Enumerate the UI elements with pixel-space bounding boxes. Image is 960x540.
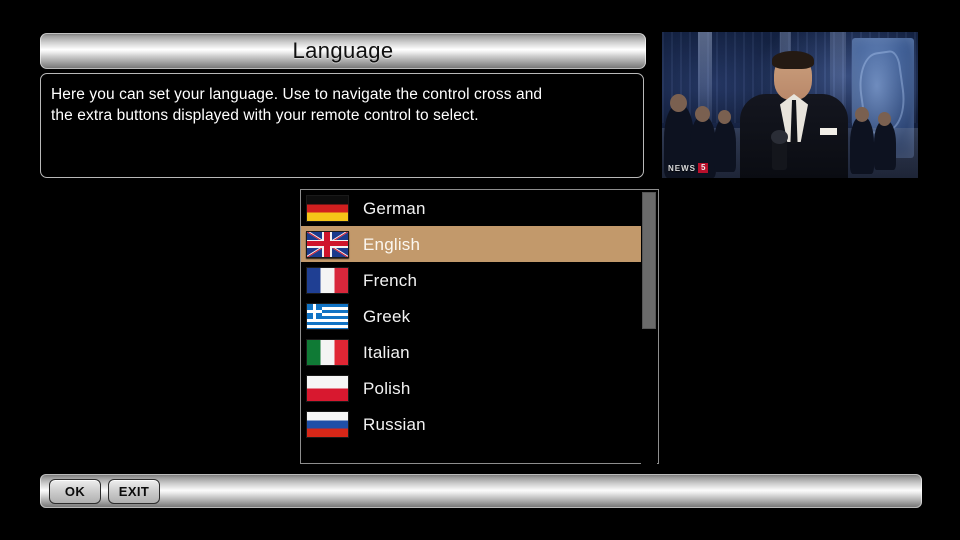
united-kingdom-flag-icon (306, 231, 349, 258)
greece-flag-icon (306, 303, 349, 330)
channel-logo-text: NEWS (668, 164, 696, 173)
germany-flag-icon (306, 195, 349, 222)
exit-button[interactable]: EXIT (108, 479, 160, 504)
list-item[interactable]: English (301, 226, 642, 262)
list-item[interactable]: Italian (301, 334, 642, 370)
list-item-label: English (363, 236, 420, 253)
tv-settings-screen: Language Here you can set your language.… (0, 0, 960, 540)
list-item[interactable]: Greek (301, 298, 642, 334)
france-flag-icon (306, 267, 349, 294)
list-item-label: Polish (363, 380, 411, 397)
language-list[interactable]: German English French Greek (301, 190, 642, 463)
info-panel: Here you can set your language. Use to n… (40, 73, 644, 178)
page-title: Language (292, 40, 393, 62)
channel-logo-badge: 5 (698, 163, 708, 173)
video-reporter-hair (772, 51, 814, 69)
video-reporter-pocket-square (820, 128, 837, 135)
list-item-label: German (363, 200, 426, 217)
list-item-label: Italian (363, 344, 410, 361)
channel-logo-bug: NEWS 5 (668, 163, 708, 173)
video-reporter-microphone (772, 136, 787, 170)
scrollbar-thumb[interactable] (642, 192, 656, 329)
bottom-action-bar: OK EXIT (40, 474, 922, 508)
list-item-label: French (363, 272, 417, 289)
language-list-panel: German English French Greek (300, 189, 659, 464)
list-item[interactable]: French (301, 262, 642, 298)
poland-flag-icon (306, 375, 349, 402)
list-item[interactable]: Polish (301, 370, 642, 406)
ok-button[interactable]: OK (49, 479, 101, 504)
list-item-label: Russian (363, 416, 426, 433)
russia-flag-icon (306, 411, 349, 438)
list-item[interactable]: German (301, 190, 642, 226)
video-preview[interactable]: NEWS 5 (662, 32, 918, 178)
list-item-label: Greek (363, 308, 410, 325)
language-list-scrollbar[interactable] (641, 191, 657, 464)
page-title-bar: Language (40, 33, 646, 69)
list-item[interactable]: Russian (301, 406, 642, 442)
italy-flag-icon (306, 339, 349, 366)
info-help-text: Here you can set your language. Use to n… (51, 84, 631, 126)
